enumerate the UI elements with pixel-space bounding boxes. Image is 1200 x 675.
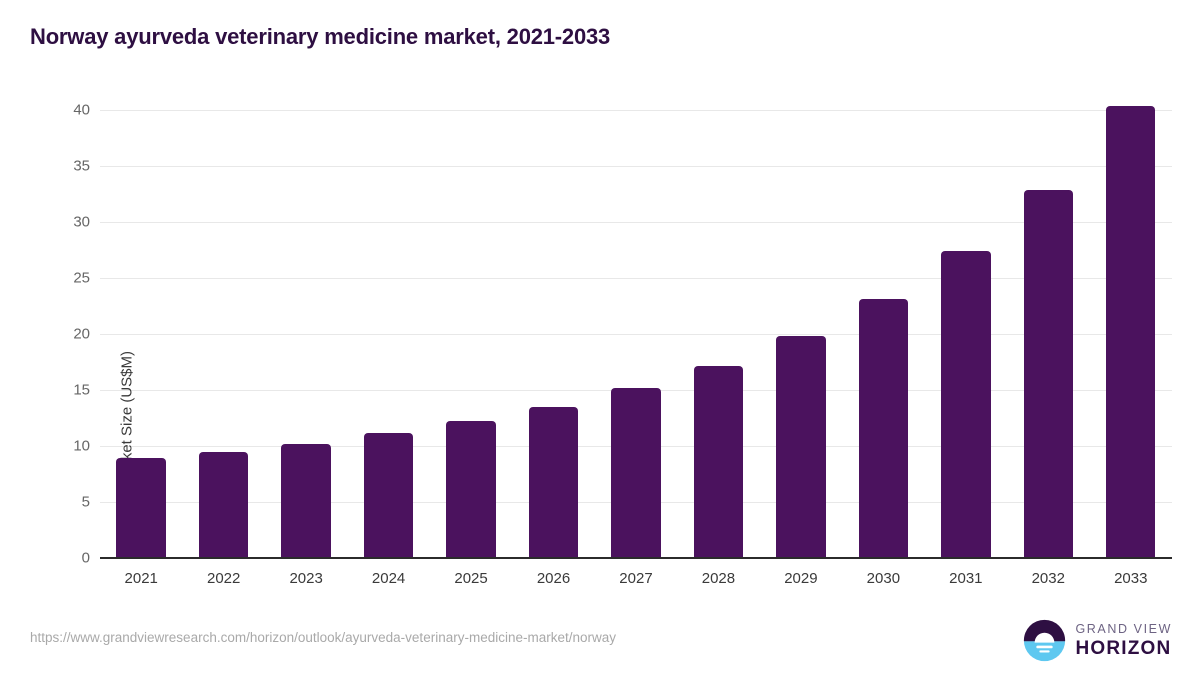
brand-logo[interactable]: GRAND VIEW HORIZON [1023, 619, 1172, 662]
bar[interactable] [694, 366, 743, 558]
bar[interactable] [1106, 106, 1155, 558]
x-tick-label: 2025 [430, 570, 512, 587]
bar-group[interactable] [199, 110, 248, 558]
bar[interactable] [941, 251, 990, 558]
bar[interactable] [611, 388, 660, 558]
x-tick-label: 2031 [925, 570, 1007, 587]
y-tick-label: 30 [73, 214, 90, 231]
y-tick-label: 10 [73, 438, 90, 455]
bar[interactable] [859, 299, 908, 558]
y-tick-label: 25 [73, 270, 90, 287]
bar-group[interactable] [529, 110, 578, 558]
x-tick-label: 2029 [760, 570, 842, 587]
x-tick-label: 2033 [1090, 570, 1172, 587]
x-tick-label: 2023 [265, 570, 347, 587]
chart-title: Norway ayurveda veterinary medicine mark… [30, 24, 610, 50]
bar[interactable] [116, 458, 165, 558]
grand-view-horizon-logo-icon [1023, 619, 1066, 662]
y-tick-label: 15 [73, 382, 90, 399]
bar[interactable] [529, 407, 578, 558]
brand-logo-line2: HORIZON [1075, 639, 1172, 658]
y-tick-label: 20 [73, 326, 90, 343]
bar[interactable] [776, 336, 825, 558]
bar-group[interactable] [1024, 110, 1073, 558]
bars-layer [100, 110, 1172, 558]
y-tick-label: 0 [82, 550, 90, 567]
bar[interactable] [1024, 190, 1073, 558]
bar-group[interactable] [364, 110, 413, 558]
y-tick-label: 40 [73, 102, 90, 119]
x-tick-label: 2027 [595, 570, 677, 587]
source-url[interactable]: https://www.grandviewresearch.com/horizo… [30, 630, 616, 645]
chart-card: Norway ayurveda veterinary medicine mark… [0, 0, 1200, 675]
bar-group[interactable] [116, 110, 165, 558]
brand-logo-text: GRAND VIEW HORIZON [1075, 623, 1172, 658]
bar-group[interactable] [446, 110, 495, 558]
bar[interactable] [364, 433, 413, 558]
bar-group[interactable] [1106, 110, 1155, 558]
bar-group[interactable] [941, 110, 990, 558]
y-axis-tick-labels: 0510152025303540 [40, 110, 90, 558]
x-axis-tick-labels: 2021202220232024202520262027202820292030… [100, 570, 1172, 598]
x-tick-label: 2032 [1007, 570, 1089, 587]
x-tick-label: 2022 [182, 570, 264, 587]
bar[interactable] [281, 444, 330, 558]
bar-group[interactable] [859, 110, 908, 558]
x-tick-label: 2030 [842, 570, 924, 587]
y-tick-label: 35 [73, 158, 90, 175]
x-tick-label: 2026 [512, 570, 594, 587]
bar-group[interactable] [281, 110, 330, 558]
x-tick-label: 2024 [347, 570, 429, 587]
x-axis-line [100, 557, 1172, 559]
bar-group[interactable] [694, 110, 743, 558]
brand-logo-line1: GRAND VIEW [1075, 623, 1172, 636]
x-tick-label: 2028 [677, 570, 759, 587]
bar[interactable] [199, 452, 248, 558]
bar-group[interactable] [776, 110, 825, 558]
bar-group[interactable] [611, 110, 660, 558]
y-tick-label: 5 [82, 494, 90, 511]
x-tick-label: 2021 [100, 570, 182, 587]
bar[interactable] [446, 421, 495, 558]
